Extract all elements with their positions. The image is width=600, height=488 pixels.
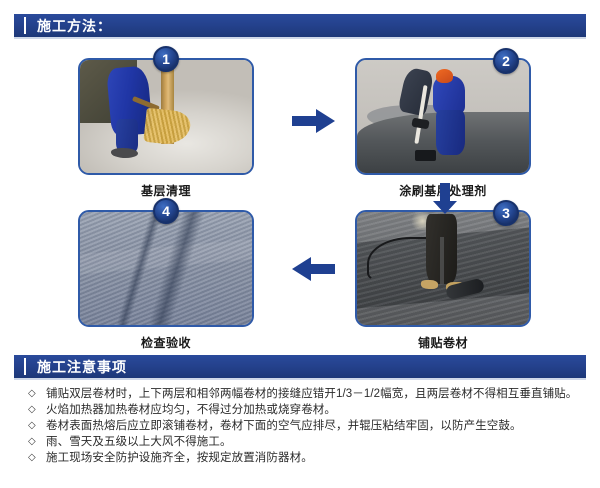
construction-method-flow: 1 基层清理 2 涂刷基层处理剂: [0, 48, 600, 343]
diamond-bullet-icon: ◇: [28, 418, 46, 434]
list-item: ◇ 卷材表面热熔后应立即滚铺卷材，卷材下面的空气应排尽，并辊压粘结牢固，以防产生…: [28, 418, 588, 434]
diamond-bullet-icon: ◇: [28, 402, 46, 418]
photo-membrane-laying: [357, 212, 529, 325]
precautions-list: ◇ 铺贴双层卷材时，上下两层和相邻两幅卷材的接缝应错开1/3－1/2幅宽，且两层…: [28, 386, 588, 466]
step-1-caption: 基层清理: [78, 182, 254, 199]
list-item: ◇ 火焰加热器加热卷材应均匀，不得过分加热或烧穿卷材。: [28, 402, 588, 418]
arrow-left-icon: [292, 256, 336, 282]
step-2-number-badge: 2: [493, 48, 519, 74]
flow-step-4[interactable]: 4 检查验收: [78, 210, 254, 351]
step-3-photo-frame: [355, 210, 531, 327]
note-text: 铺贴双层卷材时，上下两层和相邻两幅卷材的接缝应错开1/3－1/2幅宽，且两层卷材…: [46, 386, 577, 402]
header-tick-divider: [24, 358, 26, 375]
photo-primer-application: [357, 60, 529, 173]
flow-step-2[interactable]: 2 涂刷基层处理剂: [355, 58, 531, 199]
photo2-orange-helmet: [436, 69, 453, 83]
step-3-number-badge: 3: [493, 200, 519, 226]
photo-substrate-cleaning: [80, 60, 252, 173]
step-2-photo-frame: [355, 58, 531, 175]
list-item: ◇ 雨、雪天及五级以上大风不得施工。: [28, 434, 588, 450]
diamond-bullet-icon: ◇: [28, 386, 46, 402]
flow-step-1[interactable]: 1 基层清理: [78, 58, 254, 199]
section-title-method: 施工方法：: [37, 19, 112, 33]
photo-inspection-acceptance: [80, 212, 252, 325]
step-3-caption: 铺贴卷材: [355, 334, 531, 351]
section-header-method: 施工方法：: [14, 14, 586, 39]
diamond-bullet-icon: ◇: [28, 434, 46, 450]
photo3-leg-gap: [440, 237, 444, 284]
photo2-primer-tray: [415, 150, 436, 160]
section-header-notes: 施工注意事项: [14, 355, 586, 380]
flow-step-3[interactable]: 3 铺贴卷材: [355, 210, 531, 351]
note-text: 火焰加热器加热卷材应均匀，不得过分加热或烧穿卷材。: [46, 402, 336, 418]
diamond-bullet-icon: ◇: [28, 450, 46, 466]
arrow-down-icon: [432, 183, 458, 215]
step-4-number-badge: 4: [153, 198, 179, 224]
list-item: ◇ 铺贴双层卷材时，上下两层和相邻两幅卷材的接缝应错开1/3－1/2幅宽，且两层…: [28, 386, 588, 402]
header-tick-divider: [24, 17, 26, 34]
step-4-photo-frame: [78, 210, 254, 327]
section-title-notes: 施工注意事项: [37, 360, 127, 374]
photo3-boot-left: [421, 280, 438, 289]
step-1-photo-frame: [78, 58, 254, 175]
note-text: 卷材表面热熔后应立即滚铺卷材，卷材下面的空气应排尽，并辊压粘结牢固，以防产生空鼓…: [46, 418, 522, 434]
note-text: 施工现场安全防护设施齐全，按规定放置消防器材。: [46, 450, 313, 466]
photo2-worker-legs: [436, 110, 465, 155]
note-text: 雨、雪天及五级以上大风不得施工。: [46, 434, 232, 450]
arrow-right-icon: [292, 108, 336, 134]
step-4-caption: 检查验收: [78, 334, 254, 351]
step-1-number-badge: 1: [153, 46, 179, 72]
list-item: ◇ 施工现场安全防护设施齐全，按规定放置消防器材。: [28, 450, 588, 466]
